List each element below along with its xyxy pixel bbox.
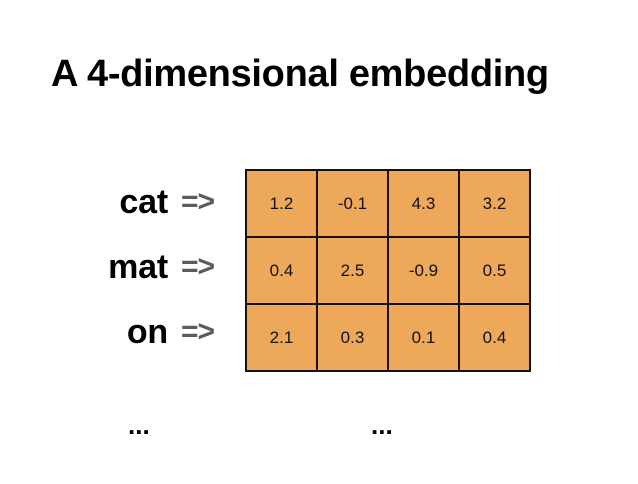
word-row-cat: cat => — [40, 169, 218, 234]
matrix-cell: 2.1 — [246, 304, 317, 371]
ellipsis-right: ... — [371, 412, 393, 438]
word-label-cat: cat — [119, 185, 168, 219]
word-row-mat: mat => — [40, 234, 218, 299]
table-row: 2.1 0.3 0.1 0.4 — [246, 304, 530, 371]
matrix-cell: -0.1 — [317, 170, 388, 237]
table-row: 1.2 -0.1 4.3 3.2 — [246, 170, 530, 237]
matrix-cell: 3.2 — [459, 170, 530, 237]
arrow-icon-on: => — [181, 317, 214, 347]
matrix-cell: 4.3 — [388, 170, 459, 237]
word-label-mat: mat — [108, 250, 168, 284]
matrix-cell: 0.4 — [459, 304, 530, 371]
word-label-column: cat => mat => on => — [40, 169, 218, 365]
page-title: A 4-dimensional embedding — [51, 52, 611, 96]
slide-canvas: A 4-dimensional embedding cat => mat => … — [0, 0, 638, 484]
ellipsis-left: ... — [128, 412, 150, 438]
arrow-icon-cat: => — [181, 187, 214, 217]
embedding-matrix: 1.2 -0.1 4.3 3.2 0.4 2.5 -0.9 0.5 2.1 0.… — [245, 169, 531, 372]
matrix-cell: 0.4 — [246, 237, 317, 304]
word-label-on: on — [127, 315, 168, 349]
matrix-cell: 2.5 — [317, 237, 388, 304]
matrix-cell: 0.3 — [317, 304, 388, 371]
matrix-cell: 0.5 — [459, 237, 530, 304]
arrow-icon-mat: => — [181, 252, 214, 282]
table-row: 0.4 2.5 -0.9 0.5 — [246, 237, 530, 304]
matrix-cell: 0.1 — [388, 304, 459, 371]
matrix-cell: 1.2 — [246, 170, 317, 237]
word-row-on: on => — [40, 300, 218, 365]
matrix-cell: -0.9 — [388, 237, 459, 304]
